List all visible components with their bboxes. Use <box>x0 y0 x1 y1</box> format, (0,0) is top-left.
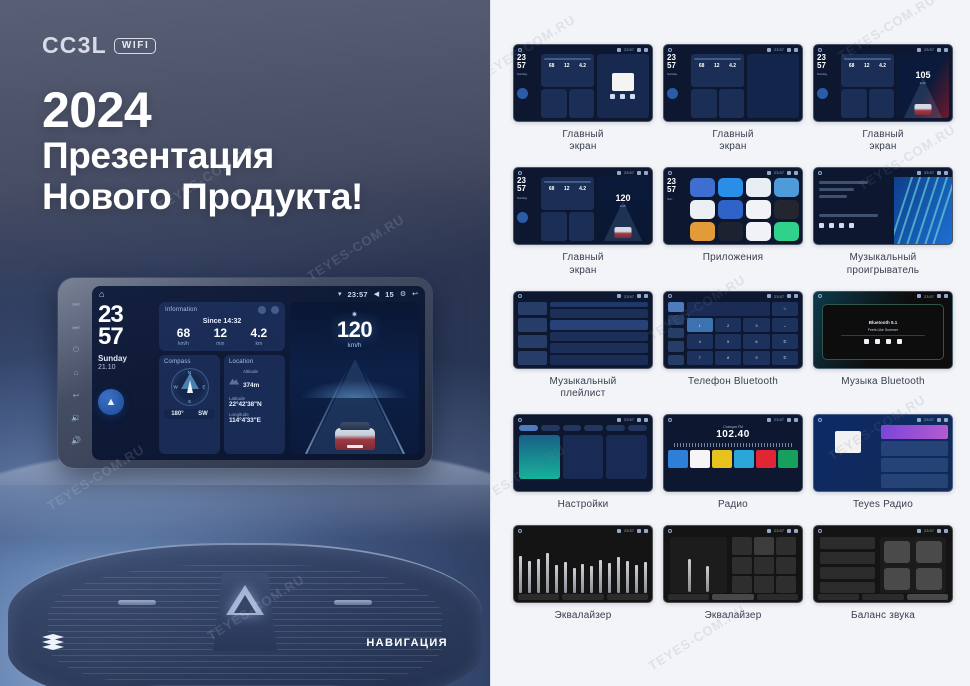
gallery-cell[interactable]: 23:57 Bluetooth 5.1 Feels Like Summer Му… <box>813 291 953 400</box>
head-unit-screen[interactable]: ⌂ ▾ 23:57 ◀ 15 ⚙ ↩ 23 57 Sunday <box>92 286 425 460</box>
radio-presets[interactable] <box>668 450 798 468</box>
playlist-rows[interactable] <box>550 302 648 365</box>
thumbnail-home-apps[interactable]: 23:57 2357Sunday 68124.2 <box>663 44 803 122</box>
widgets-bottom-row: Compass N E S W 180° <box>159 355 285 454</box>
balance-seat-pad[interactable] <box>880 537 946 593</box>
gallery-cell[interactable]: 23:57 2357Sunday 68124.2 120 km/h <box>513 167 653 276</box>
thumb-app-drawer[interactable] <box>747 54 799 118</box>
information-title: Information <box>165 307 197 313</box>
thumb-widgets: 68124.2 <box>541 54 594 118</box>
gallery-grid: 23:57 2357Sunday 68124.2 Главныйэкран 23 <box>513 44 953 623</box>
clock-widget: 23 57 Sunday 21.10 ▲ <box>98 302 154 454</box>
compass-mark-e: E <box>202 385 205 390</box>
thumbnail-home-media[interactable]: 23:57 2357Sunday 68124.2 <box>513 44 653 122</box>
equalizer-sliders[interactable] <box>519 537 647 593</box>
stat-speed: 68 km/h <box>177 327 190 347</box>
headline-line-2: Нового Продукта! <box>42 176 363 217</box>
preset-buttons[interactable] <box>732 537 796 593</box>
thumb-info-card: 68124.2 <box>541 54 594 87</box>
thumb-drive-view[interactable]: 105 km/h <box>897 54 949 118</box>
trip-stats: 68 km/h 12 min 4.2 km <box>165 327 279 347</box>
longitude-row: Longitude 114°4'33"E <box>229 412 280 424</box>
teyes-now-playing <box>818 425 878 488</box>
gallery-cell[interactable]: 23:57 Станция FM 102.40 Радио <box>663 414 803 511</box>
bt-progress[interactable] <box>841 335 925 337</box>
presentation-page: TEYES-COM.RU TEYES-COM.RU TEYES-COM.RU T… <box>0 0 970 686</box>
status-bar-right: ▾ 23:57 ◀ 15 ⚙ ↩ <box>338 290 418 299</box>
altitude-value: 374m <box>243 382 259 389</box>
thumb-status-bar: 23:57 <box>514 45 652 54</box>
volume-icon[interactable]: ◀ <box>374 290 379 298</box>
navigation-fab-button[interactable]: ▲ <box>98 389 124 415</box>
thumbnail-label: Teyes Радио <box>853 499 913 511</box>
back-arrow-icon[interactable]: ↩ <box>412 290 418 298</box>
compass-mark-w: W <box>174 385 178 390</box>
thumb-drive-view[interactable]: 120 km/h <box>597 177 649 241</box>
wifi-badge: WIFI <box>114 38 157 54</box>
player-track-info <box>814 177 894 244</box>
balance-presets[interactable] <box>818 594 948 600</box>
album-art <box>835 431 861 453</box>
navigation-arrow-icon: ▲ <box>106 396 117 408</box>
status-time: 23:57 <box>348 290 368 299</box>
bt-controls[interactable] <box>864 339 902 344</box>
thumbnail-label: Главныйэкран <box>712 129 753 153</box>
latitude-row: Latitude 22°42'38"N <box>229 396 280 408</box>
speed-unit: km/h <box>290 342 419 349</box>
thumb-compass <box>541 89 566 118</box>
car-plate <box>347 445 363 448</box>
widgets-column: Information Since 14:32 68 km/h 12 <box>159 302 285 454</box>
information-card: Information Since 14:32 68 km/h 12 <box>159 302 285 351</box>
head-unit-side-buttons[interactable]: ⏮ ⏭ ⏻ ⌂ ↩ 🔉 🔊 <box>65 286 87 460</box>
thumbnail-label: Приложения <box>703 252 764 264</box>
compass-needle <box>187 380 193 393</box>
gallery-cell[interactable]: 23:57 2357Sun Приложения <box>663 167 803 276</box>
thumb-clock: 2357Sunday <box>517 54 538 118</box>
thumb-nav-fab[interactable] <box>517 88 528 99</box>
vent-slot-left <box>118 600 156 605</box>
bass-treble-sliders[interactable] <box>670 537 727 593</box>
thumbnail-label: Настройки <box>558 499 609 511</box>
thumbnail-label: Эквалайзер <box>555 610 612 622</box>
drive-view[interactable]: ✷ 120 km/h <box>290 302 419 454</box>
thumbnail-radio[interactable]: 23:57 Станция FM 102.40 <box>663 414 803 492</box>
compass-title: Compass <box>164 359 215 365</box>
clock-date: 21.10 <box>98 364 154 371</box>
stat-time-value: 12 <box>214 327 227 339</box>
location-title: Location <box>229 359 280 365</box>
wifi-icon: ▾ <box>338 290 342 298</box>
radio-frequency: 102.40 <box>668 429 798 440</box>
vent-slot-right <box>334 600 372 605</box>
since-label: Since 14:32 <box>165 318 279 325</box>
thumbnail-home-drive-red[interactable]: 23:57 2357Sunday 68124.2 105 km/h <box>813 44 953 122</box>
equalizer-simple-layout <box>670 537 796 593</box>
thumbnail-bluetooth-phone[interactable]: 23:57 ☆ 123↔ 456✆ 789✆ <box>663 291 803 369</box>
altitude-label: Altitude <box>243 369 259 374</box>
air-vent-panel <box>8 543 482 686</box>
thumbnail-home-drive[interactable]: 23:57 2357Sunday 68124.2 120 km/h <box>513 167 653 245</box>
bt-music-card: Bluetooth 5.1 Feels Like Summer <box>822 304 944 360</box>
thumbnail-label: Главныйэкран <box>562 252 603 276</box>
thumb-media-player[interactable] <box>597 54 649 118</box>
volume-level: 15 <box>385 290 394 299</box>
speed-readout: ✷ 120 km/h <box>290 310 419 349</box>
compass-readout: 180° SW <box>164 409 215 419</box>
screenshot-gallery-panel: TEYES-COM.RU TEYES-COM.RU TEYES-COM.RU T… <box>490 0 970 686</box>
album-art <box>612 73 634 91</box>
thumbnail-music-playlist[interactable]: 23:57 <box>513 291 653 369</box>
headline-year: 2024 <box>42 85 363 135</box>
thumbnail-settings[interactable]: 23:57 <box>513 414 653 492</box>
gear-icon[interactable]: ⚙ <box>400 290 406 298</box>
thumbnail-teyes-radio[interactable]: 23:57 <box>813 414 953 492</box>
balance-mode-list[interactable] <box>820 537 875 593</box>
stat-time-unit: min <box>214 341 227 347</box>
hero-panel: TEYES-COM.RU TEYES-COM.RU TEYES-COM.RU T… <box>0 0 490 686</box>
bt-version: Bluetooth 5.1 <box>869 320 898 325</box>
button-next[interactable]: ⏭ <box>72 324 79 332</box>
location-card: Location Altitude 374m Latitude <box>224 355 285 454</box>
stat-speed-value: 68 <box>177 327 190 339</box>
thumbnail-label: Главныйэкран <box>562 129 603 153</box>
product-logo: CC3L WIFI <box>42 32 156 59</box>
thumbnail-apps[interactable]: 23:57 2357Sun <box>663 167 803 245</box>
home-circle-icon[interactable]: ⌂ <box>99 289 104 299</box>
bt-track: Feels Like Summer <box>868 328 898 332</box>
stat-distance-value: 4.2 <box>251 327 268 339</box>
car-model <box>335 420 375 450</box>
thumbnail-label: Эквалайзер <box>705 610 762 622</box>
button-volume-down[interactable]: 🔉 <box>71 414 81 422</box>
phone-dialpad[interactable]: ☆ 123↔ 456✆ 789✆ <box>687 302 798 365</box>
settings-panels[interactable] <box>519 435 647 479</box>
thumb-location <box>569 89 594 118</box>
gallery-cell[interactable]: 23:57 2357Sunday 68124.2 <box>663 44 803 153</box>
thumb-home-layout: 2357Sunday 68124.2 <box>517 54 649 118</box>
thumbnail-label: Музыкальныйпроигрыватель <box>847 252 919 276</box>
thumbnail-bluetooth-music[interactable]: 23:57 Bluetooth 5.1 Feels Like Summer <box>813 291 953 369</box>
teyes-station-list[interactable] <box>881 425 948 488</box>
speed-value: 120 <box>290 319 419 341</box>
logo-text: CC3L <box>42 32 107 59</box>
thumbnail-label: Радио <box>718 499 748 511</box>
compass-mark-s: S <box>188 399 191 404</box>
hazard-triangle-icon <box>226 585 264 615</box>
stat-speed-unit: km/h <box>177 341 190 347</box>
thumbnail-label: Баланс звука <box>851 610 915 622</box>
stat-time: 12 min <box>214 327 227 347</box>
app-icon-grid[interactable] <box>690 178 799 241</box>
gallery-cell[interactable]: 23:57 Эквалайзер <box>663 525 803 622</box>
hero-footer: НАВИГАЦИЯ <box>0 634 490 652</box>
navigation-label: НАВИГАЦИЯ <box>366 637 448 649</box>
button-prev[interactable]: ⏮ <box>72 301 79 309</box>
button-back[interactable]: ↩ <box>73 392 80 400</box>
layers-icon <box>42 634 64 652</box>
head-unit: ⏮ ⏭ ⏻ ⌂ ↩ 🔉 🔊 ⌂ ▾ 23:57 ◀ 15 ⚙ ↩ <box>58 278 432 468</box>
thumbnail-music-player[interactable]: 23:57 <box>813 167 953 245</box>
status-bar: ⌂ ▾ 23:57 ◀ 15 ⚙ ↩ <box>92 286 425 302</box>
gallery-cell[interactable]: 23:57 Teyes Радио <box>813 414 953 511</box>
thumbnail-label: Музыка Bluetooth <box>841 376 925 388</box>
button-power[interactable]: ⏻ <box>73 346 79 354</box>
thumbnail-equalizer-simple[interactable]: 23:57 <box>663 525 803 603</box>
button-volume-up[interactable]: 🔊 <box>71 437 81 445</box>
stat-distance: 4.2 km <box>251 327 268 347</box>
compass-dial: N E S W <box>171 368 209 406</box>
player-visualizer <box>894 177 952 244</box>
button-home[interactable]: ⌂ <box>74 369 79 377</box>
latitude-value: 22°42'38"N <box>229 401 280 408</box>
equalizer-presets[interactable] <box>518 594 648 600</box>
playlist-sidebar[interactable] <box>518 302 547 365</box>
longitude-value: 114°4'33"E <box>229 417 280 424</box>
screen-content: 23 57 Sunday 21.10 ▲ Information Since <box>92 302 425 460</box>
compass-degrees: 180° <box>171 411 183 417</box>
clock-weekday: Sunday <box>98 354 154 363</box>
compass-direction: SW <box>198 411 208 417</box>
thumbnail-sound-balance[interactable]: 23:57 <box>813 525 953 603</box>
thumbnail-label: Телефон Bluetooth <box>688 376 778 388</box>
gallery-cell[interactable]: 23:57 2357Sunday 68124.2 105 km/h <box>813 44 953 153</box>
compass-mark-n: N <box>188 370 191 375</box>
phone-sidebar[interactable] <box>668 302 684 365</box>
playlist-layout <box>518 302 648 365</box>
gallery-cell[interactable]: 23:57 Настройки <box>513 414 653 511</box>
thumb-widget-row <box>541 89 594 118</box>
radio-tuning-scale[interactable] <box>674 443 792 447</box>
thumbnail-label: Музыкальныйплейлист <box>550 376 617 400</box>
altitude-row: Altitude 374m <box>229 369 280 392</box>
gallery-cell[interactable]: 23:57 Эквалайзер <box>513 525 653 622</box>
settings-tabs[interactable] <box>519 425 647 431</box>
car-windshield <box>340 422 370 430</box>
thumbnail-label: Главныйэкран <box>862 129 903 153</box>
gallery-cell[interactable]: 23:57 Музыкальныйплейлист <box>513 291 653 400</box>
expand-icon[interactable] <box>271 306 279 314</box>
stat-distance-unit: km <box>251 341 268 347</box>
gallery-cell[interactable]: 23:57 Музыкальныйпроигрыватель <box>813 167 953 276</box>
gallery-cell[interactable]: 23:57 2357Sunday 68124.2 Главныйэкран <box>513 44 653 153</box>
gallery-cell[interactable]: 23:57 Баланс звука <box>813 525 953 622</box>
compass-card: Compass N E S W 180° <box>159 355 220 454</box>
information-actions[interactable] <box>258 306 279 314</box>
hero-headline: 2024 Презентация Нового Продукта! <box>42 85 363 218</box>
information-header: Information <box>165 306 279 314</box>
refresh-icon[interactable] <box>258 306 266 314</box>
clock-minutes: 57 <box>98 326 154 348</box>
mountain-icon <box>229 377 239 385</box>
equalizer-presets[interactable] <box>668 594 798 600</box>
headline-line-1: Презентация <box>42 135 363 176</box>
thumbnail-equalizer-bands[interactable]: 23:57 <box>513 525 653 603</box>
gallery-cell[interactable]: 23:57 ☆ 123↔ 456✆ 789✆ Телефон Bluetooth <box>663 291 803 400</box>
